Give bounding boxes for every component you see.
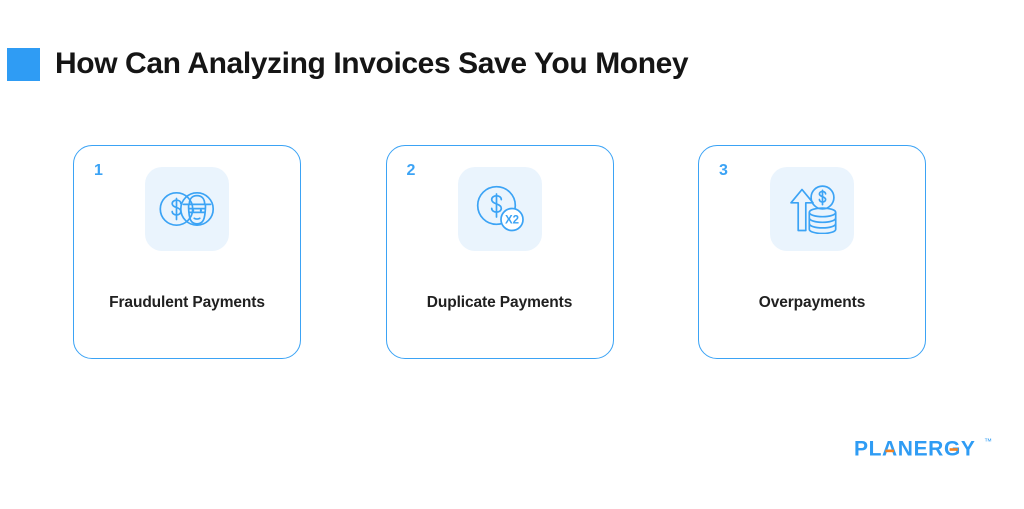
planergy-wordmark-icon: PLANERGY (854, 437, 982, 461)
accent-square-decoration (7, 48, 40, 81)
card-number: 1 (94, 163, 103, 179)
logo-g-accent (950, 448, 958, 451)
icon-tile (145, 167, 229, 251)
card-label: Fraudulent Payments (74, 294, 300, 312)
infographic-canvas: How Can Analyzing Invoices Save You Mone… (0, 0, 1024, 509)
icon-tile: X2 (458, 167, 542, 251)
planergy-logo[interactable]: PLANERGY ™ (854, 437, 992, 463)
card-label: Overpayments (699, 294, 925, 312)
card-number: 3 (719, 163, 728, 179)
card-number: 2 (407, 163, 416, 179)
up-arrow-with-coin-stack-icon (784, 184, 840, 234)
dollar-coin-with-x2-badge-icon: X2 (474, 184, 526, 234)
card-fraudulent-payments[interactable]: 1 (73, 145, 301, 359)
dollar-coin-with-masked-fraudster-icon (158, 185, 216, 233)
cards-row: 1 (73, 145, 926, 359)
card-duplicate-payments[interactable]: 2 X2 Duplicate Payments (386, 145, 614, 359)
card-overpayments[interactable]: 3 (698, 145, 926, 359)
logo-a-accent (885, 450, 894, 453)
logo-trademark: ™ (984, 438, 992, 446)
x2-badge-text: X2 (504, 214, 518, 226)
icon-tile (770, 167, 854, 251)
header: How Can Analyzing Invoices Save You Mone… (0, 40, 688, 88)
page-title: How Can Analyzing Invoices Save You Mone… (55, 49, 688, 79)
card-label: Duplicate Payments (387, 294, 613, 312)
